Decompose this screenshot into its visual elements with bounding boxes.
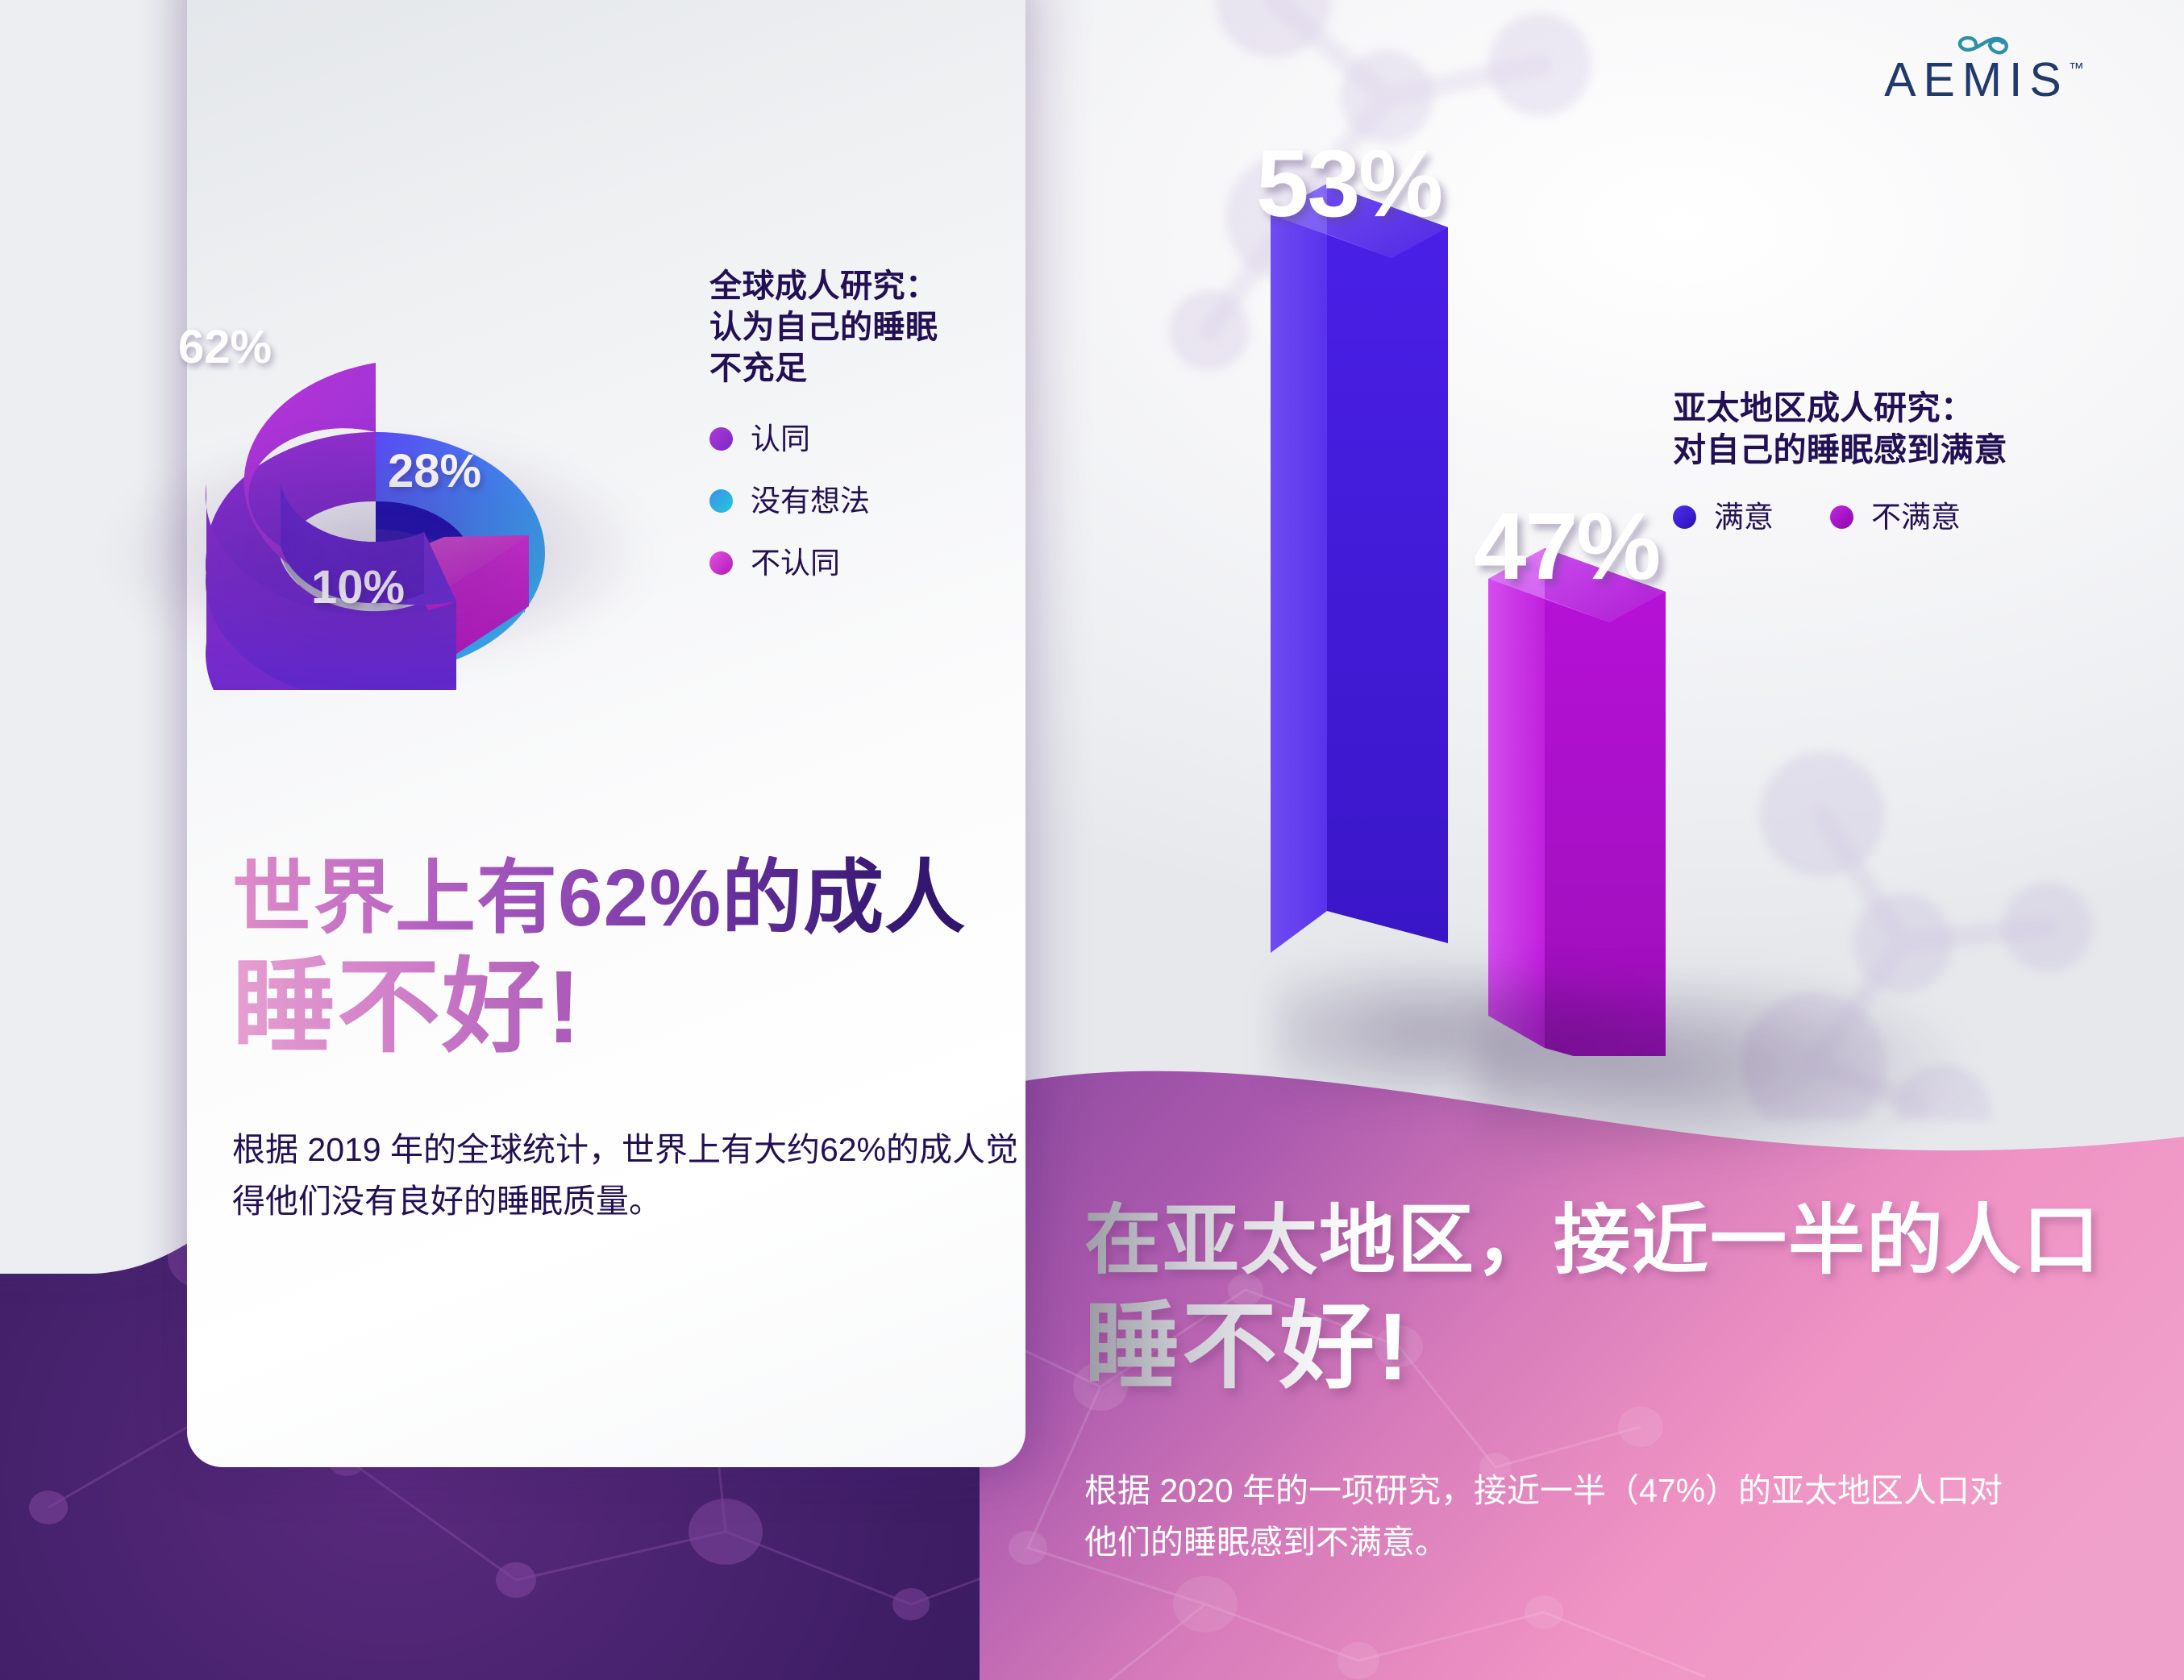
right-legend-title-line2: 对自己的睡眠感到满意	[1673, 429, 2184, 471]
left-legend-title-line3: 不充足	[709, 348, 1032, 389]
left-body-text: 根据 2019 年的全球统计，世界上有大约62%的成人觉得他们没有良好的睡眠质量…	[232, 1125, 1030, 1227]
legend-item-satisfied[interactable]: 满意	[1673, 502, 1774, 532]
left-legend-title-line1: 全球成人研究：	[709, 266, 1032, 307]
legend-item-neutral[interactable]: 没有想法	[709, 486, 1032, 516]
legend-item-disagree[interactable]: 不认同	[709, 548, 1032, 578]
legend-label-neutral: 没有想法	[751, 486, 870, 516]
legend-label-unsatisfied: 不满意	[1871, 502, 1961, 532]
right-headline: 在亚太地区，接近一半的人口 睡不好!	[1084, 1201, 2157, 1398]
left-legend-title-line2: 认为自己的睡眠	[709, 307, 1032, 348]
left-headline: 世界上有62%的成人 睡不好!	[232, 856, 1006, 1062]
legend-item-unsatisfied[interactable]: 不满意	[1830, 502, 1961, 532]
legend-dot-icon-neutral	[709, 489, 733, 513]
right-legend-title: 亚太地区成人研究： 对自己的睡眠感到满意	[1673, 387, 2184, 472]
right-chart-legend: 亚太地区成人研究： 对自己的睡眠感到满意 满意 不满意	[1673, 387, 2184, 532]
right-body-text: 根据 2020 年的一项研究，接近一半（47%）的亚太地区人口对他们的睡眠感到不…	[1084, 1466, 2036, 1568]
bar-value-satisfied: 53%	[1256, 129, 1441, 239]
infographic-canvas: 62% 28% 10% 全球成人研究： 认为自己的睡眠 不充足 认同 没有想法 …	[0, 0, 2184, 1680]
aemis-logo[interactable]: AEMIS ™	[1863, 29, 2105, 104]
donut-drop-shadow	[102, 432, 658, 674]
left-headline-line2: 睡不好!	[232, 954, 1006, 1062]
legend-label-agree: 认同	[751, 424, 810, 454]
legend-dot-icon-satisfied	[1673, 505, 1696, 529]
right-legend-title-line1: 亚太地区成人研究：	[1673, 387, 2184, 429]
left-headline-line1: 世界上有62%的成人	[232, 856, 1006, 941]
donut-chart: 62% 28% 10%	[77, 190, 674, 690]
left-chart-legend: 全球成人研究： 认为自己的睡眠 不充足 认同 没有想法 不认同	[709, 266, 1032, 610]
legend-item-agree[interactable]: 认同	[709, 424, 1032, 454]
bar-chart: 53% 47%	[1242, 137, 1887, 1056]
right-legend-items: 满意 不满意	[1673, 502, 2184, 532]
donut-value-62: 62%	[178, 321, 272, 373]
legend-dot-icon-disagree	[709, 551, 733, 575]
bar-value-unsatisfied: 47%	[1474, 492, 1659, 601]
aemis-logo-row: AEMIS ™	[1863, 56, 2105, 104]
legend-dot-icon-unsatisfied	[1830, 505, 1853, 529]
bar-shadow-unsatisfied	[1475, 979, 1975, 1173]
legend-label-disagree: 不认同	[751, 548, 840, 578]
legend-dot-icon-agree	[709, 427, 733, 451]
left-legend-title: 全球成人研究： 认为自己的睡眠 不充足	[709, 266, 1032, 390]
left-legend-items: 认同 没有想法 不认同	[709, 424, 1032, 578]
right-headline-line1: 在亚太地区，接近一半的人口	[1084, 1201, 2157, 1282]
legend-label-satisfied: 满意	[1714, 502, 1774, 532]
bar-satisfied	[1271, 184, 1448, 975]
aemis-wordmark: AEMIS	[1884, 56, 2069, 104]
trademark-symbol: ™	[2069, 61, 2084, 77]
right-headline-line2: 睡不好!	[1084, 1298, 2157, 1398]
